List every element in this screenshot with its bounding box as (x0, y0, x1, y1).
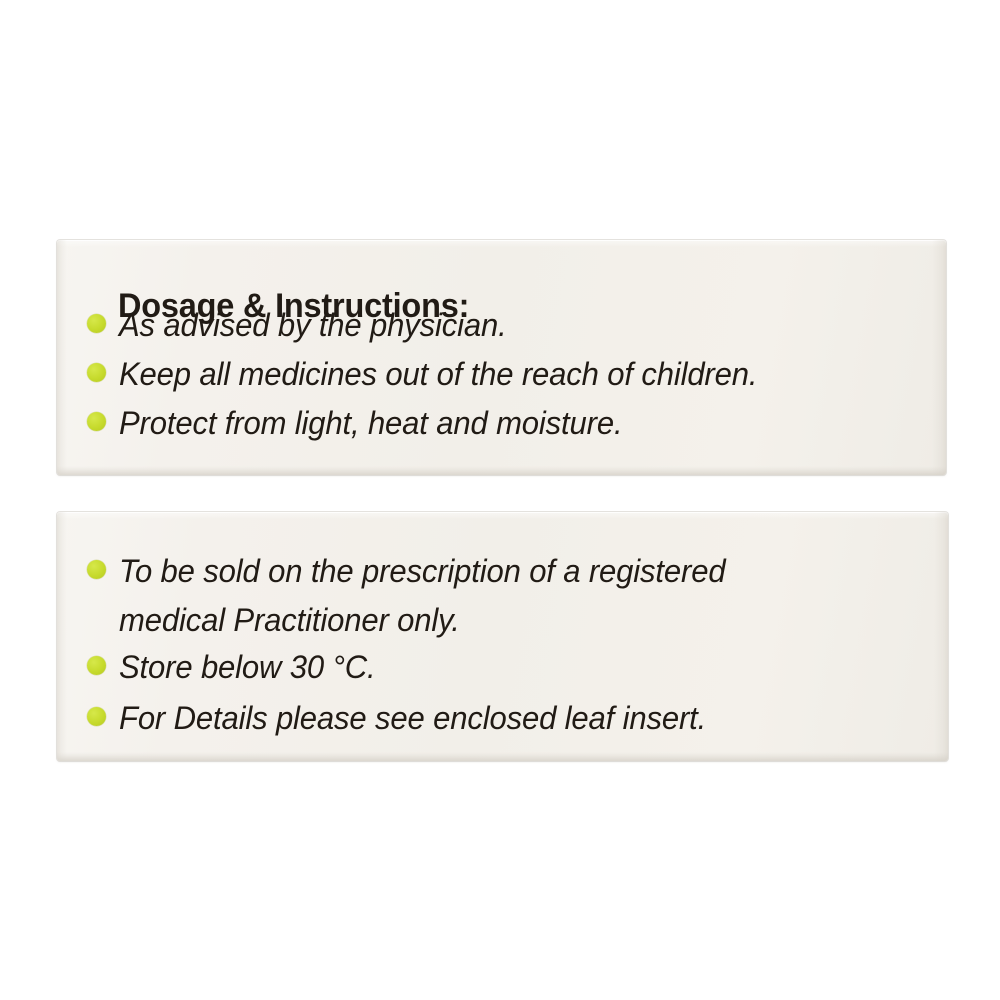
list-item-text: Store below 30 °C. (119, 643, 376, 692)
prescription-storage-panel: To be sold on the prescription of a regi… (57, 512, 948, 761)
bullet-dot-icon (87, 560, 106, 579)
list-item: Store below 30 °C. (87, 643, 383, 692)
list-item-text: As advised by the physician. (119, 301, 507, 350)
list-item-text: Keep all medicines out of the reach of c… (119, 350, 757, 399)
dosage-instructions-panel: Dosage & Instructions: As advised by the… (57, 240, 946, 475)
carton-label-stage: Dosage & Instructions: As advised by the… (0, 0, 1000, 1000)
legal-panel-content: To be sold on the prescription of a regi… (57, 512, 948, 761)
list-item-text: Protect from light, heat and moisture. (119, 399, 622, 448)
bullet-dot-icon (87, 363, 106, 382)
list-item: For Details please see enclosed leaf ins… (87, 694, 724, 743)
bullet-dot-icon (87, 656, 106, 675)
bullet-dot-icon (87, 707, 106, 726)
bullet-dot-icon (87, 412, 106, 431)
dosage-panel-content: Dosage & Instructions: As advised by the… (57, 240, 946, 475)
list-item: Keep all medicines out of the reach of c… (87, 350, 777, 399)
list-item-text: For Details please see enclosed leaf ins… (119, 694, 706, 743)
bullet-dot-icon (87, 314, 106, 333)
list-item: To be sold on the prescription of a regi… (87, 547, 948, 645)
list-item: Protect from light, heat and moisture. (87, 399, 638, 448)
list-item-text: To be sold on the prescription of a regi… (119, 547, 944, 645)
list-item: As advised by the physician. (87, 301, 519, 350)
